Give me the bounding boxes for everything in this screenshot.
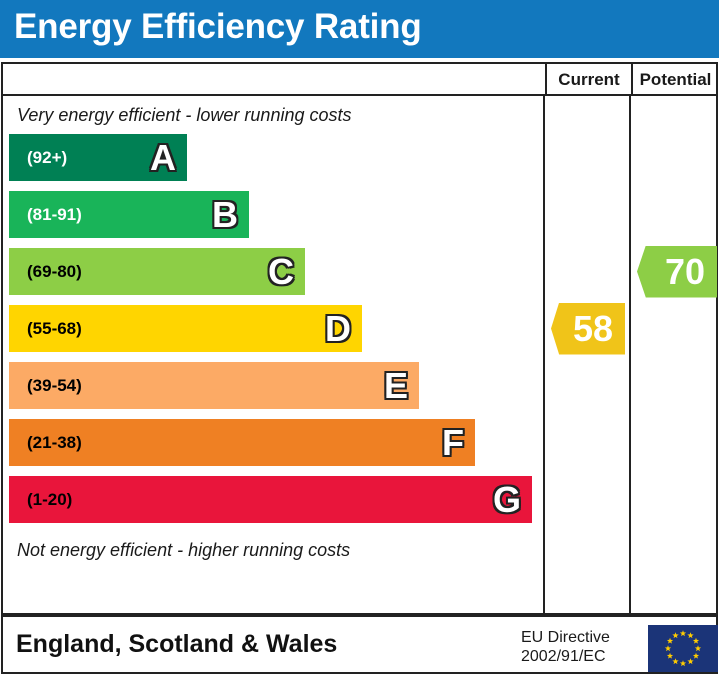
footer-directive: EU Directive 2002/91/EC [521, 628, 610, 666]
band-list: (92+)A(81-91)B(69-80)C(55-68)D(39-54)E(2… [3, 134, 543, 534]
band-letter-f: F [442, 425, 464, 461]
band-bar-c: (69-80)C [9, 248, 305, 295]
band-range-d: (55-68) [27, 319, 82, 339]
band-letter-c: C [268, 254, 294, 290]
eu-flag-icon [648, 625, 718, 672]
band-letter-a: A [150, 140, 176, 176]
column-divider-current [543, 96, 545, 613]
column-header-potential: Potential [631, 64, 718, 96]
band-bar-e: (39-54)E [9, 362, 419, 409]
band-letter-d: D [325, 311, 351, 347]
band-letter-e: E [384, 368, 408, 404]
column-divider-potential [629, 96, 631, 613]
caption-efficient: Very energy efficient - lower running co… [3, 98, 543, 132]
band-range-a: (92+) [27, 148, 67, 168]
band-range-b: (81-91) [27, 205, 82, 225]
rating-arrow-potential: 70 [637, 246, 717, 298]
energy-efficiency-certificate: Energy Efficiency Rating Current Potenti… [0, 0, 719, 675]
band-range-f: (21-38) [27, 433, 82, 453]
band-letter-b: B [212, 197, 238, 233]
band-bar-d: (55-68)D [9, 305, 362, 352]
band-range-g: (1-20) [27, 490, 72, 510]
rating-value-current: 58 [573, 311, 613, 347]
band-range-c: (69-80) [27, 262, 82, 282]
column-header-current: Current [545, 64, 631, 96]
footer: England, Scotland & Wales EU Directive 2… [1, 615, 718, 674]
band-letter-g: G [493, 482, 521, 518]
band-bar-f: (21-38)F [9, 419, 475, 466]
band-bar-g: (1-20)G [9, 476, 532, 523]
band-bar-a: (92+)A [9, 134, 187, 181]
band-range-e: (39-54) [27, 376, 82, 396]
directive-line-1: EU Directive [521, 628, 610, 647]
page-title: Energy Efficiency Rating [14, 7, 422, 47]
table-header-row: Current Potential [3, 64, 716, 96]
rating-table: Current Potential Very energy efficient … [1, 62, 718, 615]
footer-region-label: England, Scotland & Wales [16, 630, 337, 659]
rating-value-potential: 70 [665, 254, 705, 290]
directive-line-2: 2002/91/EC [521, 647, 610, 666]
rating-arrow-current: 58 [551, 303, 625, 355]
band-bar-b: (81-91)B [9, 191, 249, 238]
caption-inefficient: Not energy efficient - higher running co… [3, 533, 543, 567]
title-bar: Energy Efficiency Rating [0, 0, 719, 58]
